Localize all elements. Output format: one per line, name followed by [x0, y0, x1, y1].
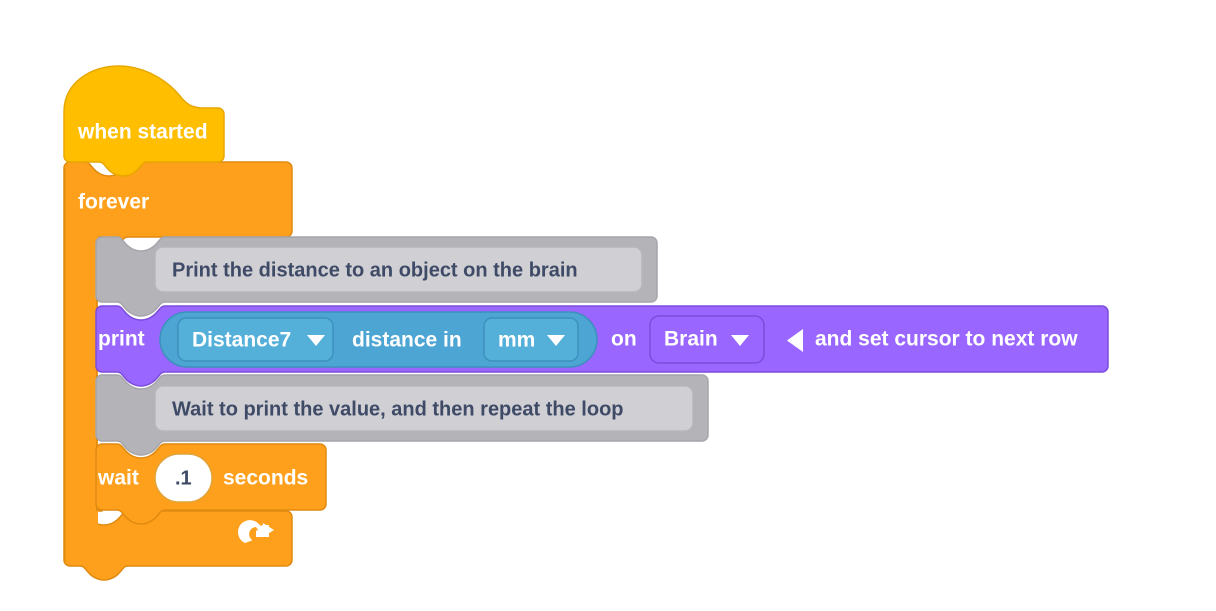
wait-seconds-value: .1 [175, 467, 192, 489]
block-print[interactable]: print Distance7 distance in mm on Brain [96, 306, 1108, 386]
sensor-middle-label: distance in [352, 329, 462, 352]
comment-2-text: Wait to print the value, and then repeat… [172, 398, 624, 420]
print-on-label: on [611, 328, 637, 351]
target-dropdown[interactable]: Brain [650, 316, 764, 363]
block-workspace[interactable]: forever when started Print the distance … [0, 0, 1216, 606]
wait-label: wait [97, 467, 139, 490]
hat-block-label: when started [77, 121, 208, 144]
blocks-canvas[interactable]: forever when started Print the distance … [0, 0, 1216, 606]
block-comment-2[interactable]: Wait to print the value, and then repeat… [96, 375, 708, 455]
sensor-reporter-distance[interactable]: Distance7 distance in mm [160, 312, 597, 367]
unit-dropdown[interactable]: mm [484, 318, 578, 361]
comment-1-text: Print the distance to an object on the b… [172, 259, 578, 281]
block-comment-1[interactable]: Print the distance to an object on the b… [96, 237, 657, 316]
block-when-started[interactable]: when started [64, 66, 224, 176]
forever-label: forever [78, 191, 149, 214]
print-cursor-label: and set cursor to next row [815, 328, 1078, 351]
print-label: print [98, 328, 145, 351]
target-dropdown-value: Brain [664, 328, 718, 351]
forever-left-spine [64, 225, 98, 525]
device-dropdown-value: Distance7 [192, 329, 291, 352]
wait-seconds-input[interactable]: .1 [155, 454, 212, 502]
unit-dropdown-value: mm [498, 329, 535, 352]
device-dropdown[interactable]: Distance7 [178, 318, 333, 361]
wait-seconds-label: seconds [223, 467, 308, 490]
